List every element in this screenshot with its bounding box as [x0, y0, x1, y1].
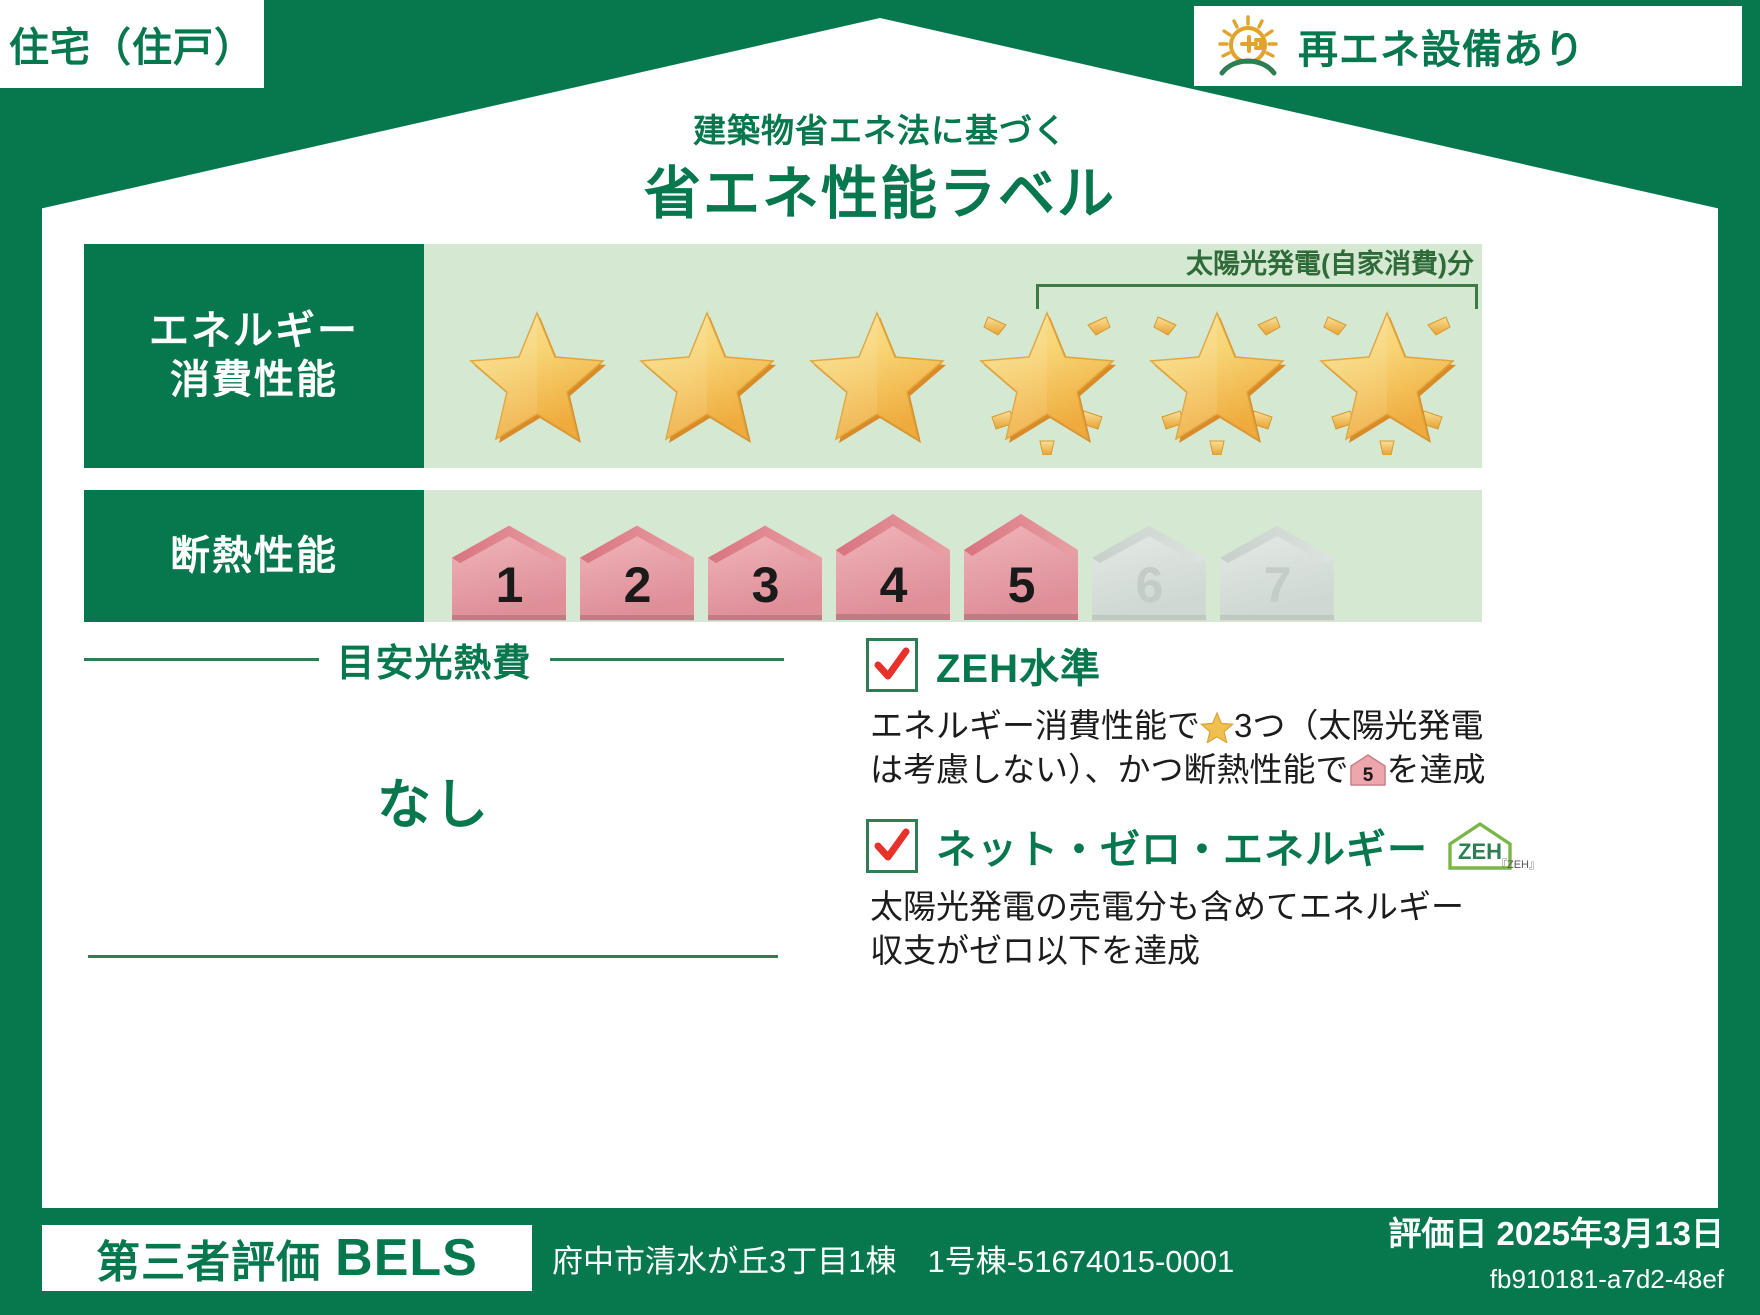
insulation-grade-number: 1 — [448, 556, 571, 614]
insulation-grade-number: 6 — [1088, 556, 1211, 614]
insulation-grade-number: 3 — [704, 556, 827, 614]
renewable-equipment-badge: 再エネ設備あり — [1194, 6, 1742, 86]
star-solar-6 — [1302, 295, 1472, 455]
insulation-grade-4: 4 — [832, 510, 955, 622]
solar-self-consumption-note: 太陽光発電(自家消費)分 — [1186, 242, 1474, 281]
heading-rule-right — [550, 658, 785, 661]
svg-text:『ZEH』: 『ZEH』 — [1496, 858, 1536, 871]
building-type-badge: 住宅（住戸） — [0, 0, 264, 88]
zeh-standard-title: ZEH水準 — [936, 636, 1101, 694]
star-base-2 — [622, 295, 792, 455]
insulation-grade-7: 7 — [1216, 522, 1339, 622]
check-icon — [872, 825, 912, 867]
bels-badge: 第三者評価 BELS — [42, 1225, 532, 1291]
utility-cost-value: なし — [84, 760, 784, 839]
energy-performance-body: 太陽光発電(自家消費)分 — [424, 244, 1482, 468]
star-solar-4 — [962, 295, 1132, 455]
zeh-standard-row: ZEH水準 — [866, 636, 1486, 694]
renewable-equipment-label: 再エネ設備あり — [1298, 17, 1585, 75]
insulation-grade-3: 3 — [704, 522, 827, 622]
utility-cost-bottom-rule — [88, 955, 778, 958]
insulation-grade-number: 2 — [576, 556, 699, 614]
energy-star-rating — [452, 290, 1472, 460]
energy-label-line1: エネルギー — [149, 307, 359, 356]
star-base-3 — [792, 295, 962, 455]
zeh-standard-checkbox[interactable] — [866, 638, 918, 692]
insulation-grade-number: 4 — [832, 556, 955, 614]
net-zero-energy-description: 太陽光発電の売電分も含めてエネルギー収支がゼロ以下を達成 — [870, 885, 1486, 972]
svg-text:5: 5 — [1362, 765, 1373, 786]
zeh-desc-part1: エネルギー消費性能で — [870, 707, 1200, 744]
insulation-performance-body: 1 2 3 — [424, 490, 1482, 622]
insulation-performance-row: 断熱性能 1 — [84, 490, 1482, 622]
property-address: 府中市清水が丘3丁目1棟 1号棟-51674015-0001 — [552, 1236, 1234, 1281]
check-icon — [872, 644, 912, 686]
energy-label-line2: 消費性能 — [170, 356, 338, 405]
label-subtitle: 建築物省エネ法に基づく — [0, 104, 1760, 152]
insulation-grade-number: 7 — [1216, 556, 1339, 614]
label-footer: 第三者評価 BELS 府中市清水が丘3丁目1棟 1号棟-51674015-000… — [0, 1208, 1760, 1315]
insulation-grade-6: 6 — [1088, 522, 1211, 622]
solar-sun-icon — [1212, 15, 1284, 77]
insulation-grade-5: 5 — [960, 510, 1083, 622]
bels-label-root: 住宅（住戸） 再エネ設備あり 建築物省エネ法に基づく 省エネ性能ラベル — [0, 0, 1760, 1315]
bels-badge-en: BELS — [335, 1228, 478, 1288]
energy-performance-row: エネルギー 消費性能 太陽光発電(自家消費)分 — [84, 244, 1482, 468]
insulation-grade-2: 2 — [576, 522, 699, 622]
insulation-grade-number: 5 — [960, 556, 1083, 614]
star-base-1 — [452, 295, 622, 455]
bels-badge-jp: 第三者評価 — [96, 1226, 321, 1290]
utility-cost-block: 目安光熱費 なし — [84, 636, 784, 966]
insulation-grade-1: 1 — [448, 522, 571, 622]
label-title: 省エネ性能ラベル — [0, 148, 1760, 230]
utility-cost-heading-text: 目安光熱費 — [319, 632, 550, 687]
net-zero-energy-checkbox[interactable] — [866, 819, 918, 873]
star-icon — [1200, 711, 1234, 743]
heading-rule-left — [84, 658, 319, 661]
zeh-desc-part3: を達成 — [1387, 751, 1486, 788]
insulation-label-text: 断熱性能 — [170, 532, 338, 581]
evaluation-date: 評価日 2025年3月13日 — [1388, 1207, 1724, 1255]
star-solar-5 — [1132, 295, 1302, 455]
insulation-performance-label: 断熱性能 — [84, 490, 424, 622]
building-type-label: 住宅（住戸） — [9, 15, 255, 73]
insulation-grade-scale: 1 2 3 — [448, 490, 1468, 622]
utility-cost-heading: 目安光熱費 — [84, 636, 784, 682]
zeh-standard-description: エネルギー消費性能で3つ（太陽光発電は考慮しない）、かつ断熱性能で5を達成 — [870, 704, 1486, 791]
evaluation-id: fb910181-a7d2-48ef — [1490, 1264, 1724, 1295]
net-zero-energy-title: ネット・ゼロ・エネルギー — [936, 817, 1428, 875]
energy-performance-label: エネルギー 消費性能 — [84, 244, 424, 468]
insulation-grade-badge-icon: 5 — [1349, 753, 1387, 787]
zeh-logo-icon: ZEH 『ZEH』 — [1440, 820, 1536, 872]
net-zero-energy-row: ネット・ゼロ・エネルギー ZEH 『ZEH』 — [866, 817, 1486, 875]
zeh-criteria-block: ZEH水準 エネルギー消費性能で3つ（太陽光発電は考慮しない）、かつ断熱性能で5… — [866, 636, 1486, 998]
